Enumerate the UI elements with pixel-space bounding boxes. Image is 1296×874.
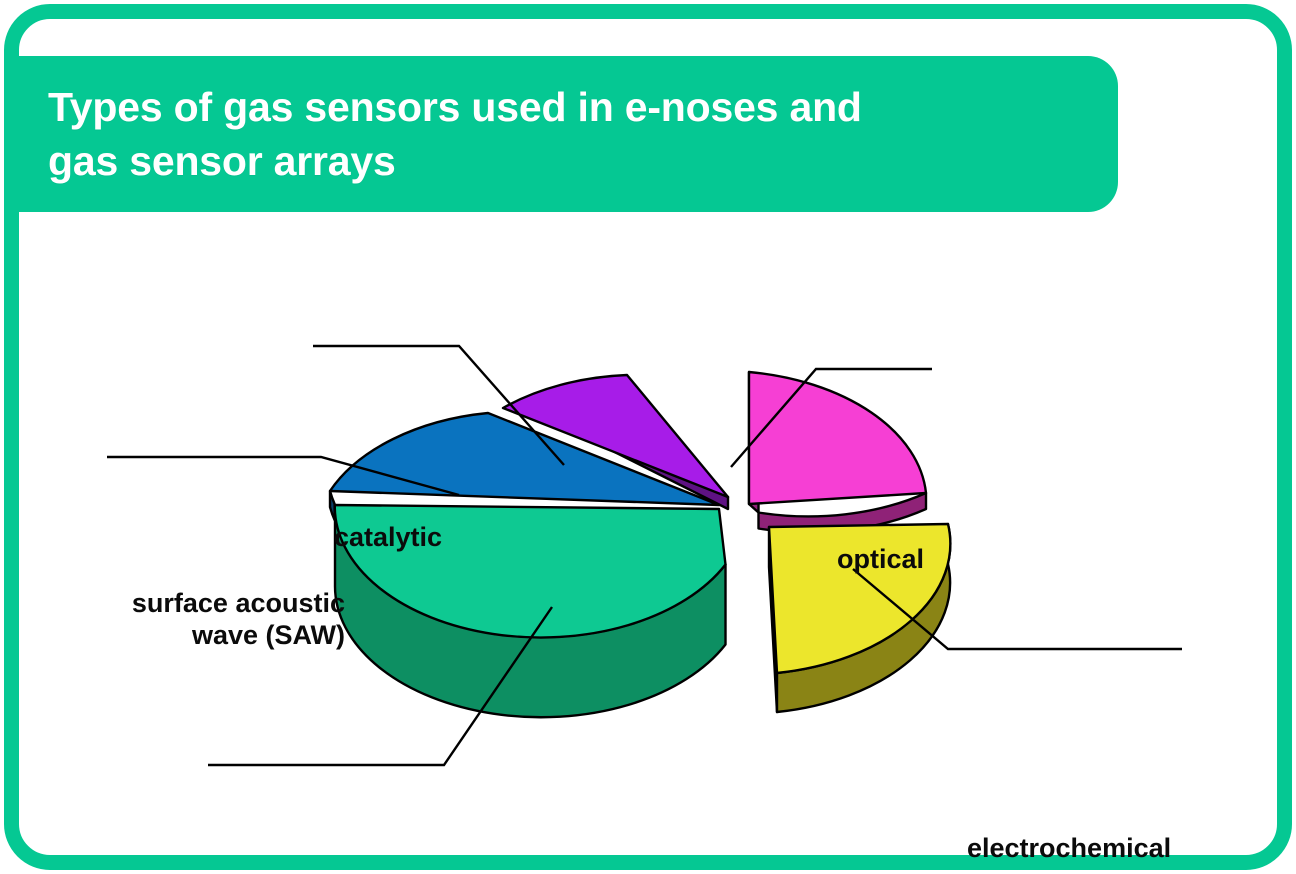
- slice-label-optical: optical: [837, 544, 924, 576]
- slice-label-surface-acoustic-wave: surface acoustic wave (SAW): [111, 588, 345, 652]
- slice-label-catalytic: catalytic: [334, 522, 442, 554]
- slice-label-electrochemical: electrochemical: [967, 833, 1171, 865]
- pie-chart: catalytic surface acoustic wave (SAW) op…: [19, 212, 1277, 855]
- slice-top-optical: [749, 372, 926, 504]
- poster-root: { "theme": { "brand_green": "#05c893", "…: [0, 0, 1296, 874]
- page-title: Types of gas sensors used in e-noses and…: [14, 80, 862, 188]
- title-banner: Types of gas sensors used in e-noses and…: [14, 56, 1118, 212]
- pie-chart-svg: [19, 212, 1277, 855]
